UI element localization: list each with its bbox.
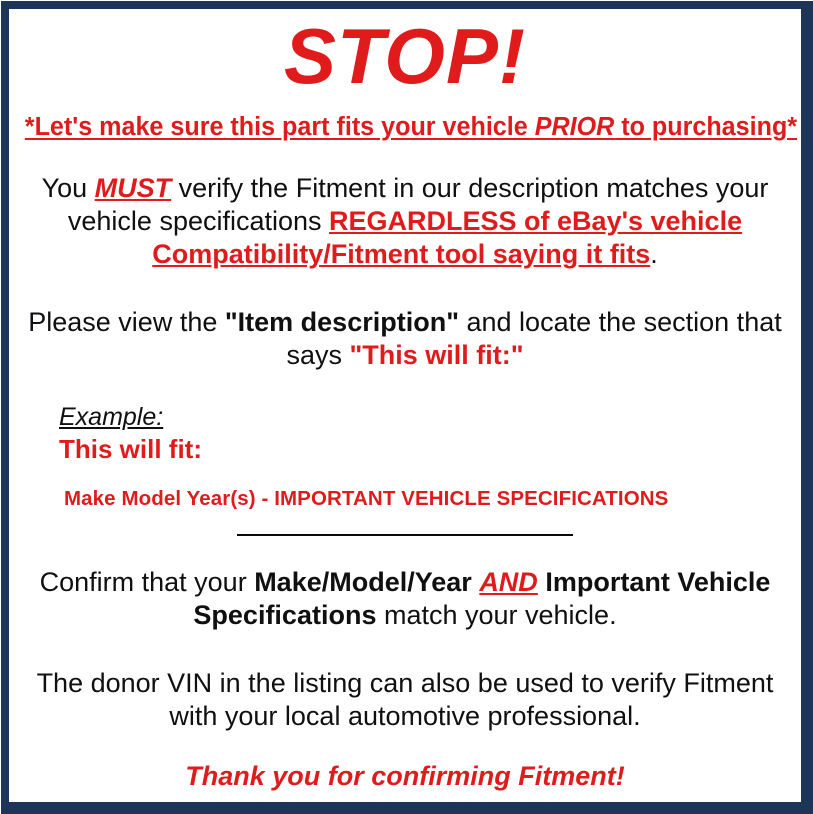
paragraph-confirm: Confirm that your Make/Model/Year AND Im… <box>19 566 791 633</box>
example-block: Example: This will fit: Make Model Year(… <box>19 403 791 512</box>
thank-you-line: Thank you for confirming Fitment! <box>19 760 791 792</box>
example-label: Example: <box>59 403 791 432</box>
subtitle-emphasis-prior: PRIOR <box>535 113 615 141</box>
paragraph-donor-vin: The donor VIN in the listing can also be… <box>19 667 791 734</box>
must-seg-3: . <box>650 239 658 269</box>
page-title: STOP! <box>19 17 791 95</box>
quote-item-description: "Item description" <box>225 307 459 337</box>
notice-content: STOP! *Let's make sure this part fits yo… <box>9 17 801 810</box>
horizontal-divider <box>237 534 573 536</box>
paragraph-item-description: Please view the "Item description" and l… <box>19 306 791 373</box>
view-seg-1: Please view the <box>28 307 225 337</box>
paragraph-must-verify: You MUST verify the Fitment in our descr… <box>19 172 791 272</box>
fitment-notice-page: STOP! *Let's make sure this part fits yo… <box>0 0 813 814</box>
notice-border-frame: STOP! *Let's make sure this part fits yo… <box>1 1 813 814</box>
emphasis-and: AND <box>479 567 538 597</box>
subtitle-text-after: to purchasing* <box>614 113 797 141</box>
subtitle-banner: *Let's make sure this part fits your veh… <box>25 113 785 142</box>
quote-this-will-fit: "This will fit:" <box>349 340 523 370</box>
must-seg-1: You <box>42 173 95 203</box>
subtitle-text-before: *Let's make sure this part fits your veh… <box>25 113 535 141</box>
confirm-seg-4: match your vehicle. <box>376 600 616 630</box>
confirm-seg-1: Confirm that your <box>40 567 255 597</box>
bold-make-model-year: Make/Model/Year <box>254 567 472 597</box>
emphasis-must: MUST <box>95 173 172 203</box>
example-spec-line: Make Model Year(s) - IMPORTANT VEHICLE S… <box>59 487 791 512</box>
divider-wrapper <box>19 534 791 536</box>
example-this-will-fit: This will fit: <box>59 434 791 465</box>
